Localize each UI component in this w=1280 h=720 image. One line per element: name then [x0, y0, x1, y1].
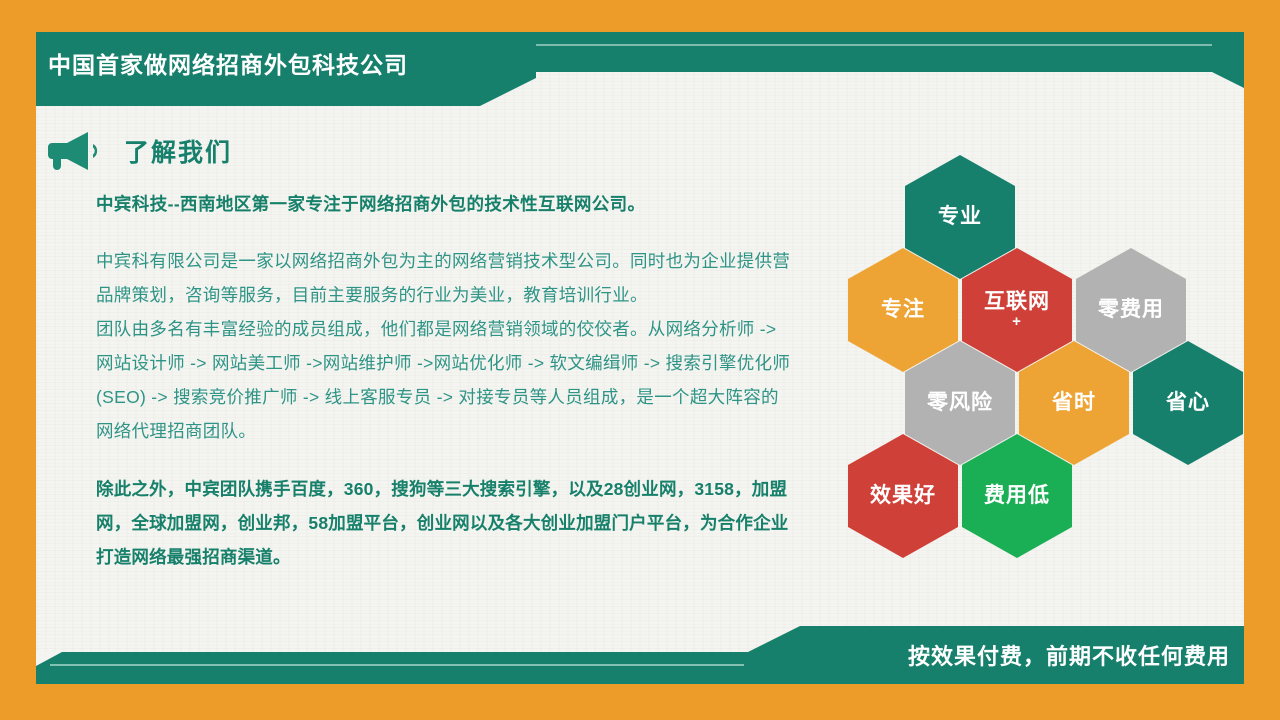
section-title: 了解我们: [124, 133, 232, 169]
header-title-block: 中国首家做网络招商外包科技公司: [36, 32, 536, 106]
paragraph-2: 团队由多名有丰富经验的成员组成，他们都是网络营销领域的佼佼者。从网络分析师 ->…: [96, 312, 796, 448]
hexagon-label: 零风险: [927, 391, 993, 415]
hexagon-label: 省心: [1166, 391, 1210, 415]
hexagon-label: 效果好: [870, 484, 936, 508]
lead-paragraph: 中宾科技--西南地区第一家专注于网络招商外包的技术性互联网公司。: [96, 190, 796, 218]
megaphone-icon: [48, 130, 102, 172]
slide-root: 中国首家做网络招商外包科技公司 了解我们 中宾科技--西南地区第一家专注于网络招…: [0, 0, 1280, 720]
hexagon-sublabel: +: [1012, 314, 1022, 331]
paragraph-1: 中宾科有限公司是一家以网络招商外包为主的网络营销技术型公司。同时也为企业提供营品…: [96, 244, 796, 312]
footer-title-block: 按效果付费，前期不收任何费用: [744, 626, 1244, 684]
hexagon-label: 费用低: [984, 484, 1050, 508]
closing-paragraph: 除此之外，中宾团队携手百度，360，搜狗等三大搜索引擎，以及28创业网，3158…: [96, 472, 796, 574]
hexagon-label: 专业: [938, 205, 982, 229]
header-title: 中国首家做网络招商外包科技公司: [36, 32, 476, 94]
hexagon-label: 省时: [1052, 391, 1096, 415]
hexagon-cluster: 专业专注互联网+零费用零风险省时省心效果好费用低: [830, 155, 1230, 545]
footer-rule: [50, 664, 780, 666]
body-column: 中宾科技--西南地区第一家专注于网络招商外包的技术性互联网公司。 中宾科有限公司…: [96, 190, 796, 574]
header: 中国首家做网络招商外包科技公司: [36, 32, 1244, 72]
hexagon-label: 零费用: [1098, 298, 1164, 322]
hexagon-label: 专注: [881, 298, 925, 322]
footer-title: 按效果付费，前期不收任何费用: [908, 626, 1230, 684]
hexagon-label: 互联网: [984, 290, 1050, 314]
footer: 按效果付费，前期不收任何费用: [36, 642, 1244, 684]
section-title-row: 了解我们: [48, 130, 232, 172]
